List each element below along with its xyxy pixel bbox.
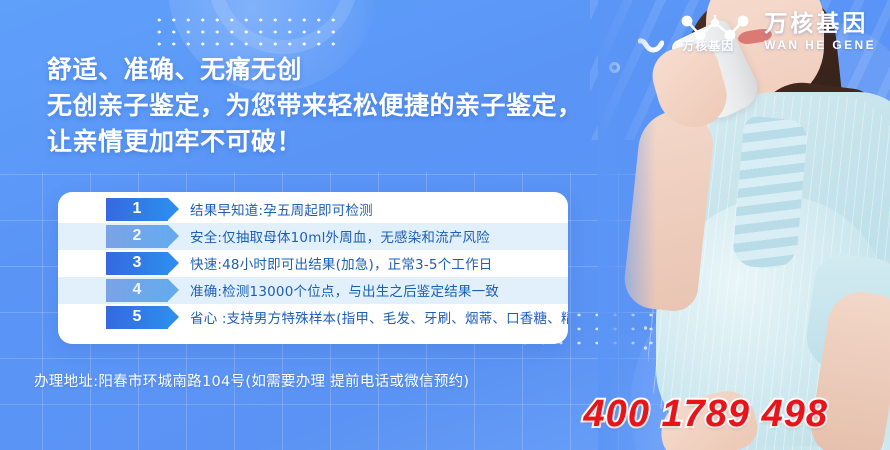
headline-line-3: 让亲情更加牢不可破！ [47, 124, 583, 160]
feature-text: 快速:48小时即可出结果(加急)，正常3-5个工作日 [190, 253, 493, 273]
feature-row: 4 准确:检测13000个位点，与出生之后鉴定结果一致 [58, 277, 568, 304]
photo-shirt-ruffle [732, 115, 809, 270]
promo-banner: 万核基因 万核基因 WAN HE GENE 舒适、准确、无痛无创 无创亲子鉴定，… [0, 0, 890, 450]
brand-logo[interactable]: 万核基因 万核基因 WAN HE GENE [678, 10, 876, 52]
feature-text: 结果早知道:孕五周起即可检测 [190, 199, 373, 219]
phone-number[interactable]: 400 1789 498 [584, 393, 828, 436]
pregnant-woman-photo [598, 0, 890, 450]
feature-text: 安全:仅抽取母体10ml外周血，无感染和流产风险 [190, 226, 490, 246]
feature-number-badge: 2 [106, 225, 168, 248]
photo-edge-fade [598, 0, 656, 450]
feature-number-badge: 5 [106, 306, 168, 329]
feature-card: 1 结果早知道:孕五周起即可检测 2 安全:仅抽取母体10ml外周血，无感染和流… [58, 192, 568, 344]
feature-number-badge: 4 [106, 279, 168, 302]
feature-number-badge: 3 [106, 252, 168, 275]
headline-line-1: 舒适、准确、无痛无创 [47, 52, 583, 88]
address-text: 办理地址:阳春市环城南路104号(如需要办理 提前电话或微信预约) [34, 370, 469, 391]
headline-line-2: 无创亲子鉴定，为您带来轻松便捷的亲子鉴定， [47, 88, 583, 124]
headline: 舒适、准确、无痛无创 无创亲子鉴定，为您带来轻松便捷的亲子鉴定， 让亲情更加牢不… [47, 52, 583, 160]
feature-text: 省心 :支持男方特殊样本(指甲、毛发、牙刷、烟蒂、口香糖、精斑等) [190, 307, 568, 327]
feature-row: 3 快速:48小时即可出结果(加急)，正常3-5个工作日 [58, 250, 568, 277]
logo-name-cn: 万核基因 [764, 12, 876, 35]
molecule-network-icon: 万核基因 [678, 10, 752, 52]
dot-grid-top-icon [152, 14, 346, 48]
feature-row: 5 省心 :支持男方特殊样本(指甲、毛发、牙刷、烟蒂、口香糖、精斑等) [58, 304, 568, 331]
feature-number-badge: 1 [106, 198, 168, 221]
feature-row: 1 结果早知道:孕五周起即可检测 [58, 196, 568, 223]
feature-row: 2 安全:仅抽取母体10ml外周血，无感染和流产风险 [58, 223, 568, 250]
feature-text: 准确:检测13000个位点，与出生之后鉴定结果一致 [190, 280, 499, 300]
logo-mark-label: 万核基因 [682, 37, 734, 54]
logo-name-en: WAN HE GENE [764, 39, 876, 51]
